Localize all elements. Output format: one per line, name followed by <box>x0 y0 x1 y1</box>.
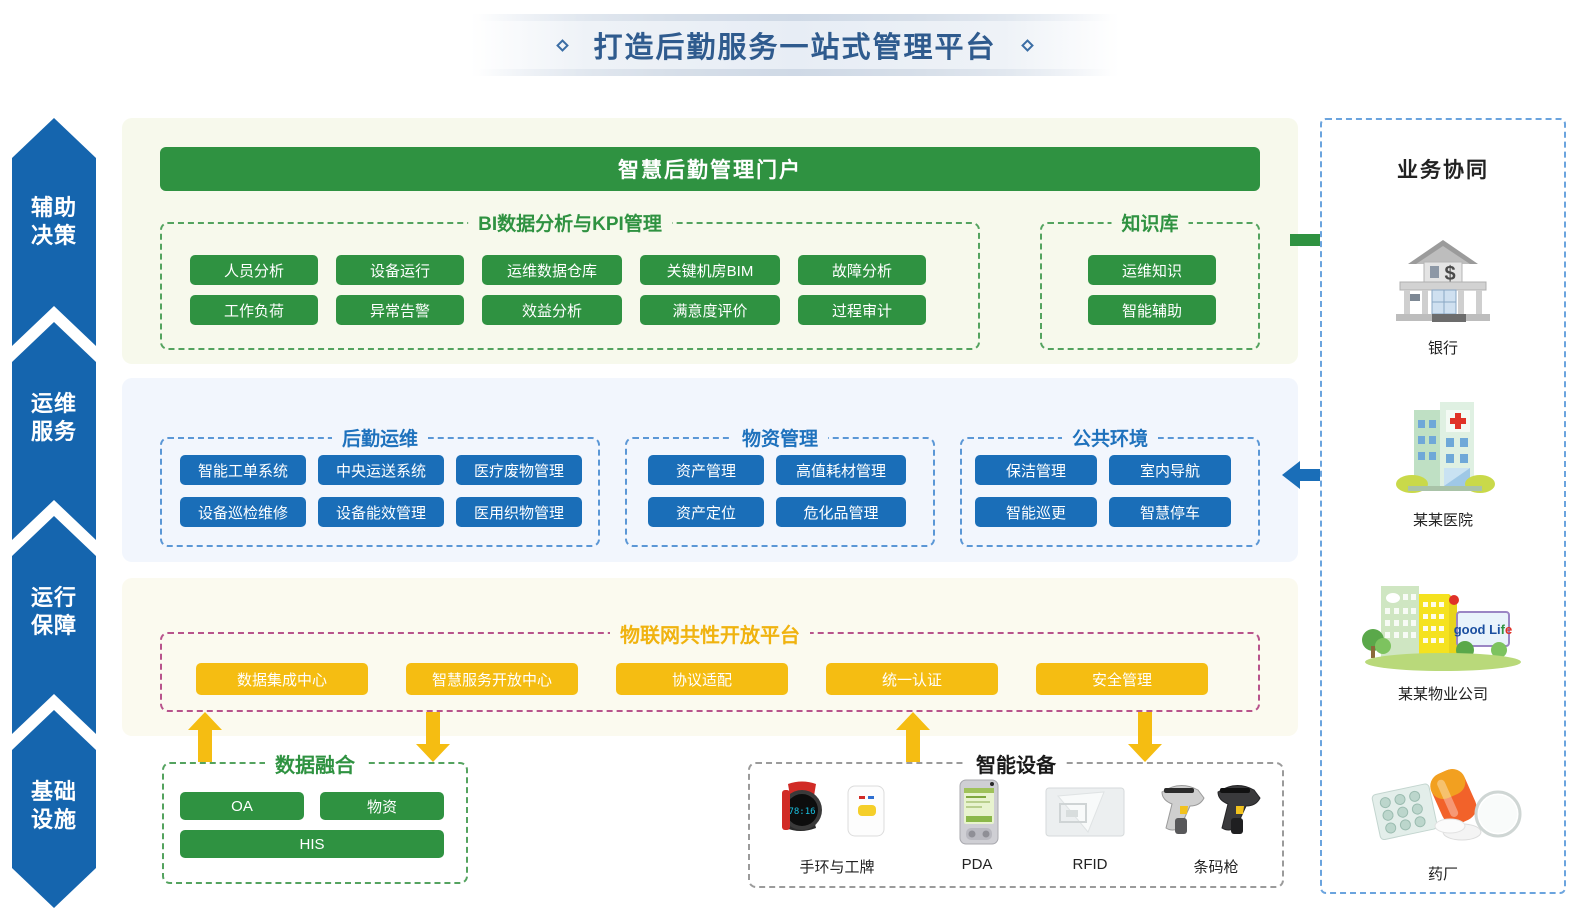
collaboration-title: 业务协同 <box>1322 154 1564 184</box>
collaboration-item-property-label: 某某物业公司 <box>1322 683 1564 704</box>
device-barcode-scanner[interactable]: 条码枪 <box>1156 778 1276 877</box>
group-data-fusion-title: 数据融合 <box>265 749 365 778</box>
chip-env-2[interactable]: 智能巡更 <box>975 497 1097 527</box>
property-company-icon: good Life <box>1353 572 1533 672</box>
chip-bi-7[interactable]: 效益分析 <box>482 295 622 325</box>
chip-iot-1[interactable]: 智慧服务开放中心 <box>406 663 578 695</box>
rail-item-infrastructure-line2: 设施 <box>12 806 96 834</box>
chip-bi-5[interactable]: 工作负荷 <box>190 295 318 325</box>
collaboration-item-hospital[interactable]: 某某医院 <box>1322 398 1564 530</box>
group-smart-devices-title: 智能设备 <box>966 749 1066 778</box>
chip-iot-0[interactable]: 数据集成中心 <box>196 663 368 695</box>
chip-bi-2[interactable]: 运维数据仓库 <box>482 255 622 285</box>
pda-icon <box>922 778 1032 846</box>
rail-item-ops-service-line2: 服务 <box>12 418 96 446</box>
group-logistics-ops-title: 后勤运维 <box>332 424 428 451</box>
device-pda[interactable]: PDA <box>922 778 1032 873</box>
portal-header[interactable]: 智慧后勤管理门户 <box>160 147 1260 191</box>
arrow-down-yellow-icon-fusion <box>416 712 450 762</box>
group-logistics-ops-chips: 智能工单系统 中央运送系统 医疗废物管理 设备巡检维修 设备能效管理 医用织物管… <box>180 455 582 527</box>
chip-env-1[interactable]: 室内导航 <box>1109 455 1231 485</box>
rail-item-infrastructure[interactable]: 基础 设施 <box>12 778 96 834</box>
rail-item-operation-guarantee-line1: 运行 <box>12 584 96 612</box>
group-bi-analytics-title: BI数据分析与KPI管理 <box>468 209 672 236</box>
chip-env-3[interactable]: 智慧停车 <box>1109 497 1231 527</box>
chip-fusion-oa[interactable]: OA <box>180 792 304 820</box>
bank-building-icon: $ <box>1378 224 1508 326</box>
chip-bi-1[interactable]: 设备运行 <box>336 255 464 285</box>
chip-ops-3[interactable]: 设备巡检维修 <box>180 497 306 527</box>
rail-item-ops-service-line1: 运维 <box>12 390 96 418</box>
diamond-icon-left <box>557 39 570 52</box>
chip-iot-3[interactable]: 统一认证 <box>826 663 998 695</box>
group-public-environment-chips: 保洁管理 室内导航 智能巡更 智慧停车 <box>975 455 1245 527</box>
device-pda-label: PDA <box>922 856 1032 873</box>
page-title-banner: 打造后勤服务一站式管理平台 <box>470 14 1120 76</box>
collaboration-item-bank-label: 银行 <box>1322 337 1564 358</box>
chip-mat-1[interactable]: 高值耗材管理 <box>776 455 906 485</box>
chip-ops-2[interactable]: 医疗废物管理 <box>456 455 582 485</box>
rail-item-ops-service[interactable]: 运维 服务 <box>12 390 96 446</box>
rail-item-decision-line2: 决策 <box>12 222 96 250</box>
collaboration-item-bank[interactable]: $ 银行 <box>1322 224 1564 358</box>
hospital-building-icon <box>1378 398 1508 498</box>
chip-bi-9[interactable]: 过程审计 <box>798 295 926 325</box>
chip-bi-4[interactable]: 故障分析 <box>798 255 926 285</box>
group-materials-chips: 资产管理 高值耗材管理 资产定位 危化品管理 <box>648 455 916 527</box>
device-barcode-scanner-label: 条码枪 <box>1156 856 1276 877</box>
rail-item-infrastructure-line1: 基础 <box>12 778 96 806</box>
group-data-fusion-chips: OA 物资 HIS <box>180 792 450 858</box>
group-materials-title: 物资管理 <box>732 424 828 451</box>
chip-mat-3[interactable]: 危化品管理 <box>776 497 906 527</box>
rail-item-decision[interactable]: 辅助 决策 <box>12 194 96 250</box>
chip-ops-1[interactable]: 中央运送系统 <box>318 455 444 485</box>
chip-iot-4[interactable]: 安全管理 <box>1036 663 1208 695</box>
rfid-tag-icon <box>1030 778 1150 846</box>
group-iot-platform-title: 物联网共性开放平台 <box>610 619 810 648</box>
arrow-up-yellow-icon-devices <box>896 712 930 762</box>
arrow-up-yellow-icon-fusion <box>188 712 222 762</box>
barcode-scanner-icon <box>1156 778 1276 846</box>
chip-env-0[interactable]: 保洁管理 <box>975 455 1097 485</box>
group-public-environment-title: 公共环境 <box>1062 424 1158 451</box>
chip-fusion-materials[interactable]: 物资 <box>320 792 444 820</box>
collaboration-item-pharma-label: 药厂 <box>1322 863 1564 884</box>
collaboration-item-pharma[interactable]: 药厂 <box>1322 752 1564 884</box>
device-rfid[interactable]: RFID <box>1030 778 1150 873</box>
device-wristband-and-badge-label: 手环与工牌 <box>762 856 912 877</box>
collaboration-item-hospital-label: 某某医院 <box>1322 509 1564 530</box>
chip-bi-6[interactable]: 异常告警 <box>336 295 464 325</box>
collaboration-item-property[interactable]: good Life 某某物业公司 <box>1322 572 1564 704</box>
chip-bi-3[interactable]: 关键机房BIM <box>640 255 780 285</box>
rail-item-operation-guarantee[interactable]: 运行 保障 <box>12 584 96 640</box>
group-knowledge-base-chips: 运维知识 智能辅助 <box>1088 255 1218 325</box>
group-bi-analytics-chips: 人员分析 设备运行 运维数据仓库 关键机房BIM 故障分析 工作负荷 异常告警 … <box>190 255 960 325</box>
group-iot-platform-chips: 数据集成中心 智慧服务开放中心 协议适配 统一认证 安全管理 <box>196 663 1236 695</box>
chip-ops-4[interactable]: 设备能效管理 <box>318 497 444 527</box>
rail-item-operation-guarantee-line2: 保障 <box>12 612 96 640</box>
group-knowledge-base-title: 知识库 <box>1111 209 1188 236</box>
arrow-down-yellow-icon-devices <box>1128 712 1162 762</box>
rail-item-decision-line1: 辅助 <box>12 194 96 222</box>
svg-text:78:16: 78:16 <box>788 807 815 817</box>
chip-bi-0[interactable]: 人员分析 <box>190 255 318 285</box>
chip-iot-2[interactable]: 协议适配 <box>616 663 788 695</box>
chip-ops-5[interactable]: 医用织物管理 <box>456 497 582 527</box>
collaboration-panel: 业务协同 $ 银行 <box>1320 118 1566 894</box>
wristband-and-badge-icon: 78:16 <box>762 778 912 846</box>
device-rfid-label: RFID <box>1030 856 1150 873</box>
page-title: 打造后勤服务一站式管理平台 <box>593 24 996 66</box>
chip-bi-8[interactable]: 满意度评价 <box>640 295 780 325</box>
chip-mat-0[interactable]: 资产管理 <box>648 455 764 485</box>
chip-ops-0[interactable]: 智能工单系统 <box>180 455 306 485</box>
chip-mat-2[interactable]: 资产定位 <box>648 497 764 527</box>
svg-text:good Life: good Life <box>1454 622 1513 637</box>
chip-kb-1[interactable]: 智能辅助 <box>1088 295 1216 325</box>
device-wristband-and-badge[interactable]: 78:16 手环与工牌 <box>762 778 912 877</box>
layer-rail: 辅助 决策 运维 服务 运行 保障 基础 设施 <box>12 118 96 908</box>
chip-fusion-his[interactable]: HIS <box>180 830 444 858</box>
chip-kb-0[interactable]: 运维知识 <box>1088 255 1216 285</box>
diamond-icon-right <box>1021 39 1034 52</box>
pharmaceutical-factory-icon <box>1358 752 1528 852</box>
